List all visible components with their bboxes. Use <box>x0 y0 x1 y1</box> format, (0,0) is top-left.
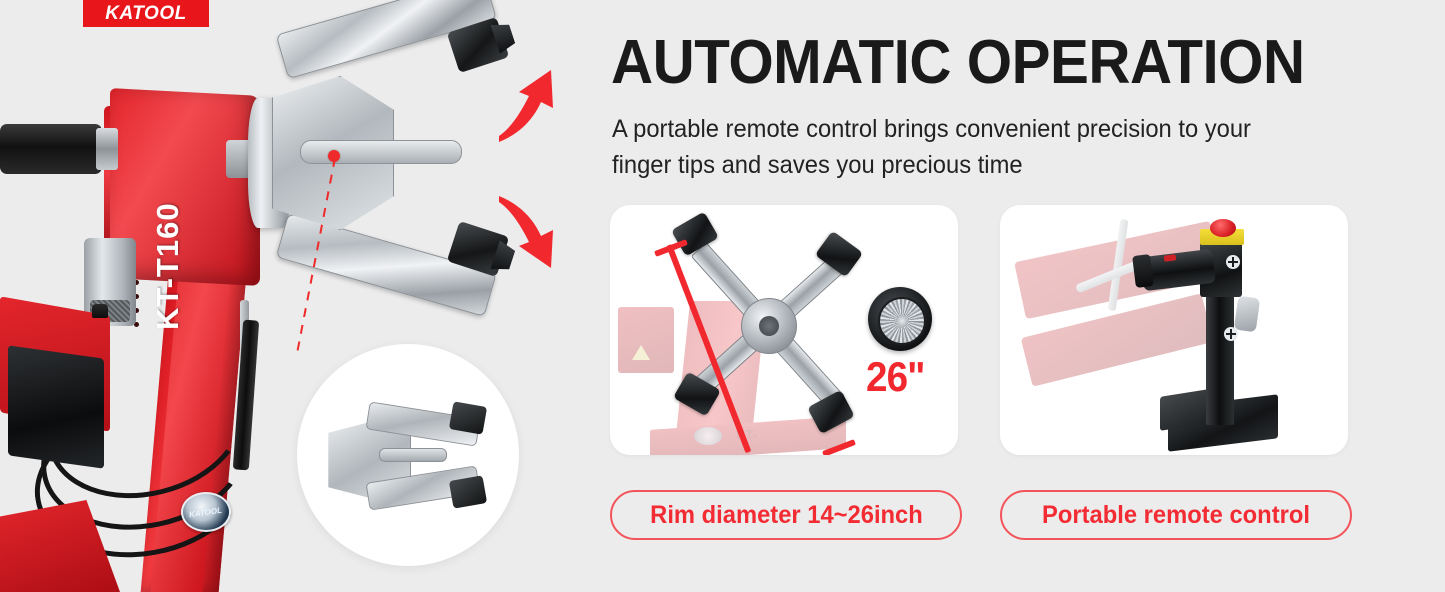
page-title: AUTOMATIC OPERATION <box>611 32 1305 94</box>
hydraulic-motor-barrel <box>0 124 102 174</box>
gripper-link-rod <box>300 140 462 164</box>
motor-cap <box>96 128 118 170</box>
katool-logo-badge: KATOOL <box>83 0 209 27</box>
wheel-graphic <box>868 287 932 351</box>
control-knob <box>92 304 108 318</box>
crosshair-icon <box>1224 327 1238 341</box>
pedestal-post <box>1206 279 1234 425</box>
content-panel: AUTOMATIC OPERATION A portable remote co… <box>608 0 1445 592</box>
inset-clamp-illustration <box>323 402 493 512</box>
remote-control-caption-pill: Portable remote control <box>1000 490 1352 540</box>
promo-banner: KT-T160 KATOOL KATOOL <box>0 0 1445 592</box>
pill-label: Portable remote control <box>1042 501 1310 530</box>
feature-cards: KT- 26 <box>610 205 1342 455</box>
rim-diameter-caption-pill: Rim diameter 14~26inch <box>610 490 962 540</box>
decal-text: KATOOL <box>189 505 223 519</box>
product-photo-left: KT-T160 KATOOL <box>0 0 600 592</box>
emergency-stop-button-icon <box>1210 219 1236 237</box>
remote-control-cap <box>1132 254 1154 288</box>
crosshair-icon <box>1226 255 1240 269</box>
rim-size-annotation: 26" <box>866 353 925 401</box>
remote-control-card <box>1000 205 1348 455</box>
logo-text: KATOOL <box>105 3 186 25</box>
closed-jaw-detail-inset <box>297 344 519 566</box>
four-jaw-clamp-illustration <box>662 211 874 439</box>
pill-label: Rim diameter 14~26inch <box>650 501 923 530</box>
machine-model-label: KT-T160 <box>150 120 190 330</box>
ghost-arm-illustration <box>1018 219 1228 409</box>
valve-block <box>8 345 104 468</box>
pedestal-lamp <box>1234 296 1261 333</box>
curved-arrow-down-icon <box>495 188 585 278</box>
curved-arrow-up-icon <box>495 62 585 152</box>
wheel-rim <box>878 297 926 345</box>
katool-round-decal: KATOOL <box>181 492 231 532</box>
rim-diameter-card: KT- 26 <box>610 205 958 455</box>
page-subtitle: A portable remote control brings conveni… <box>612 112 1304 183</box>
